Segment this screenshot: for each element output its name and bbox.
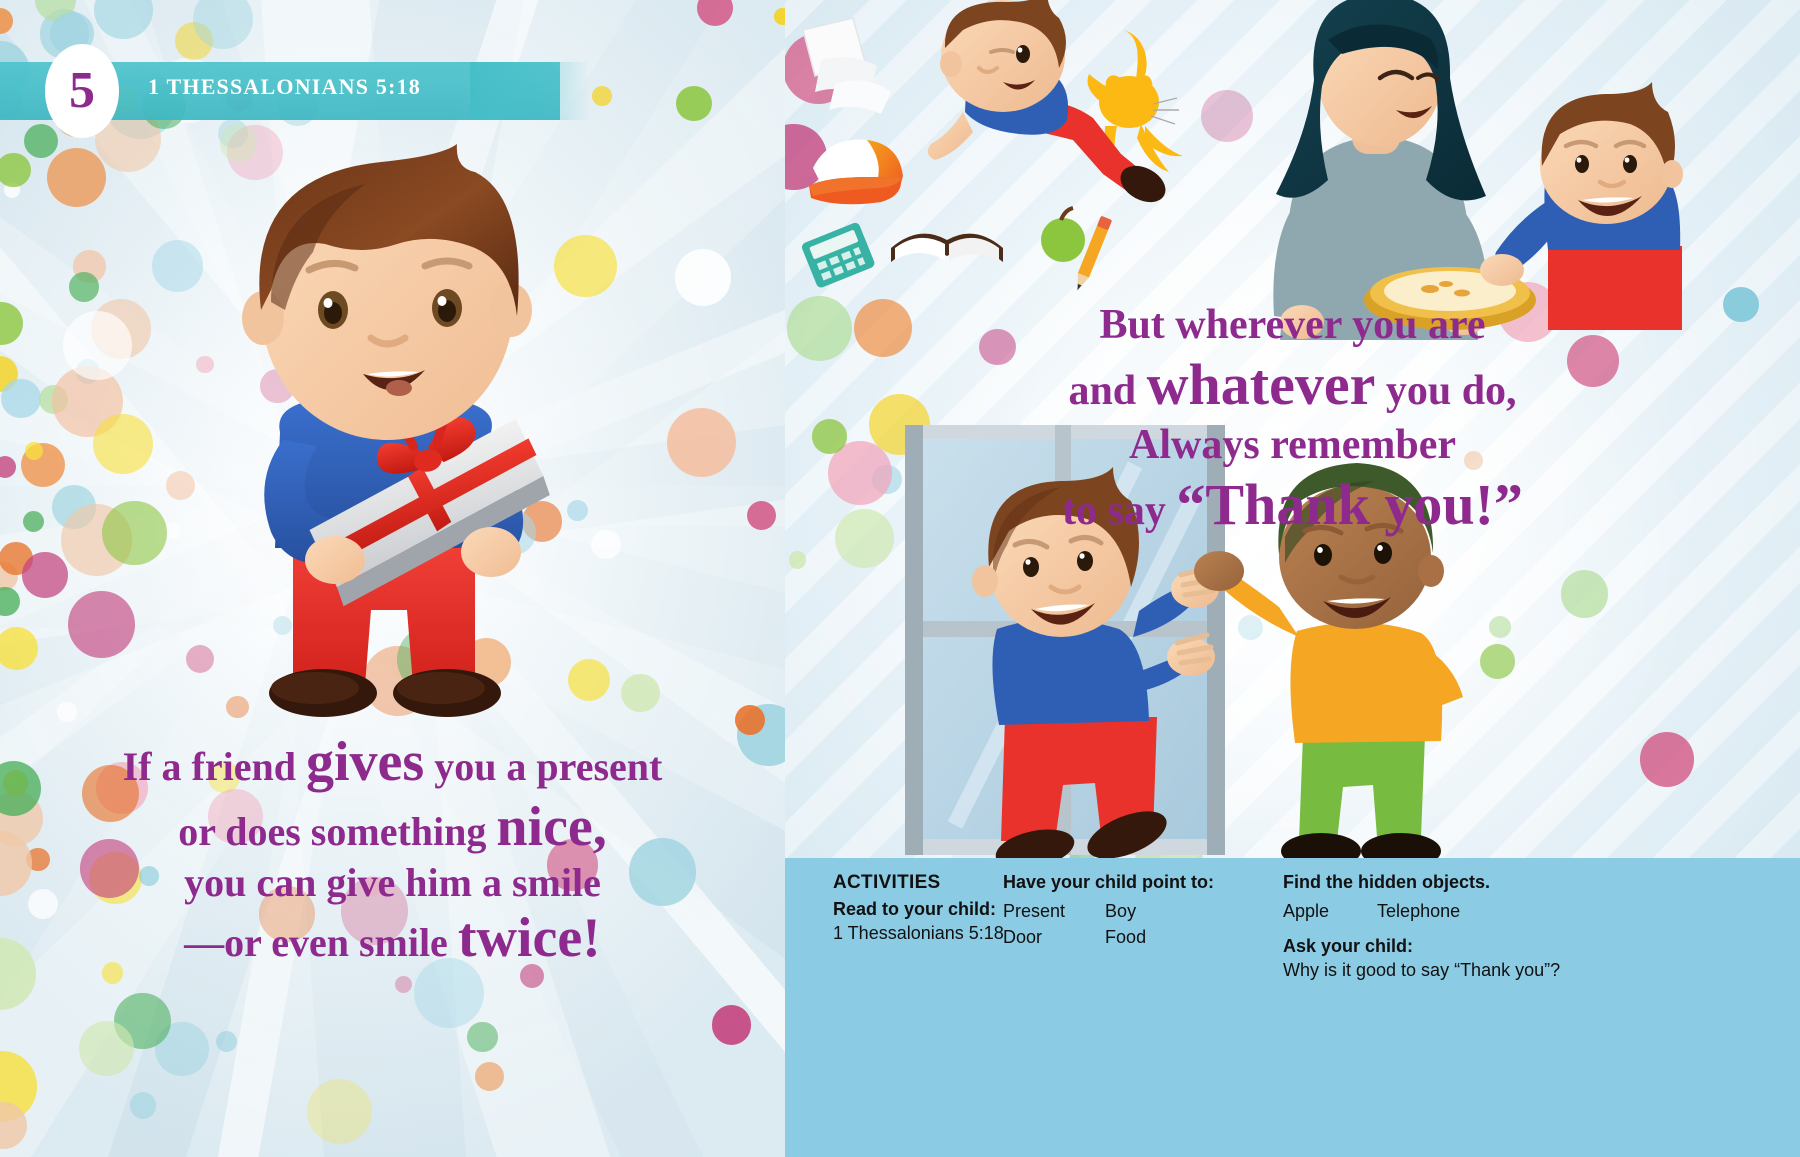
confetti-dot bbox=[22, 552, 68, 598]
hidden-item: Telephone bbox=[1377, 898, 1460, 924]
activities-point-column: Have your child point to: Present Door B… bbox=[1003, 872, 1214, 950]
confetti-dot bbox=[79, 1021, 134, 1076]
mother-serving-food-scene bbox=[1240, 0, 1800, 340]
point-label: Have your child point to: bbox=[1003, 872, 1214, 893]
point-item: Present bbox=[1003, 898, 1065, 924]
point-item: Food bbox=[1105, 924, 1146, 950]
book-spread: 5 1 THESSALONIANS 5:18 bbox=[0, 0, 1800, 1157]
confetti-dot bbox=[621, 674, 659, 712]
headline-line: But wherever you are bbox=[785, 300, 1800, 350]
confetti-dot bbox=[130, 1092, 157, 1119]
read-label: Read to your child: bbox=[833, 899, 1004, 920]
confetti-dot bbox=[93, 414, 153, 474]
ask-label: Ask your child: bbox=[1283, 936, 1560, 957]
confetti-dot bbox=[789, 551, 807, 569]
headline-line: to say “Thank you!” bbox=[785, 470, 1800, 540]
confetti-dot bbox=[712, 1005, 751, 1044]
ask-question: Why is it good to say “Thank you”? bbox=[1283, 960, 1560, 981]
read-value: 1 Thessalonians 5:18 bbox=[833, 923, 1004, 944]
confetti-dot bbox=[68, 591, 135, 658]
confetti-dot bbox=[63, 311, 132, 380]
point-item: Boy bbox=[1105, 898, 1146, 924]
page-number: 5 bbox=[69, 65, 95, 117]
headline-line: and whatever you do, bbox=[785, 350, 1800, 420]
confetti-dot bbox=[592, 86, 612, 106]
confetti-dot bbox=[307, 1079, 372, 1144]
verse-line: or does something nice, bbox=[0, 795, 785, 860]
left-page: 5 1 THESSALONIANS 5:18 bbox=[0, 0, 785, 1157]
confetti-dot bbox=[57, 702, 77, 722]
point-items-col-2: Boy Food bbox=[1105, 898, 1146, 950]
hidden-label: Find the hidden objects. bbox=[1283, 872, 1560, 893]
confetti-dot bbox=[675, 249, 731, 305]
activities-title: ACTIVITIES bbox=[833, 872, 1004, 894]
boy-with-gift-illustration bbox=[175, 140, 595, 730]
right-headline: But wherever you are and whatever you do… bbox=[785, 300, 1800, 540]
headline-line: Always remember bbox=[785, 420, 1800, 470]
point-item: Door bbox=[1003, 924, 1065, 950]
scripture-reference: 1 THESSALONIANS 5:18 bbox=[148, 74, 421, 100]
verse-line: If a friend gives you a present bbox=[0, 730, 785, 795]
hidden-item: Apple bbox=[1283, 898, 1329, 924]
confetti-dot bbox=[667, 408, 736, 477]
right-page: But wherever you are and whatever you do… bbox=[785, 0, 1800, 1157]
page-number-badge: 5 bbox=[45, 44, 119, 138]
header-bar-fade bbox=[470, 62, 590, 120]
point-items-col-1: Present Door bbox=[1003, 898, 1065, 950]
confetti-dot bbox=[1640, 732, 1694, 786]
falling-objects-scene bbox=[795, 0, 1225, 300]
confetti-dot bbox=[747, 501, 776, 530]
confetti-dot bbox=[591, 530, 620, 559]
confetti-dot bbox=[475, 1062, 504, 1091]
confetti-dot bbox=[467, 1022, 498, 1053]
verse-line: —or even smile twice! bbox=[0, 906, 785, 971]
verse-line: you can give him a smile bbox=[0, 860, 785, 906]
confetti-dot bbox=[69, 272, 99, 302]
confetti-dot bbox=[676, 86, 712, 122]
confetti-dot bbox=[774, 8, 785, 25]
activities-hidden-column: Find the hidden objects. Apple Telephone… bbox=[1283, 872, 1560, 981]
confetti-dot bbox=[25, 442, 43, 460]
confetti-dot bbox=[102, 501, 166, 565]
confetti-dot bbox=[1, 379, 40, 418]
activities-panel: ACTIVITIES Read to your child: 1 Thessal… bbox=[785, 858, 1800, 1157]
confetti-dot bbox=[23, 511, 44, 532]
left-verse: If a friend gives you a present or does … bbox=[0, 730, 785, 971]
activities-read-column: ACTIVITIES Read to your child: 1 Thessal… bbox=[833, 872, 1004, 944]
